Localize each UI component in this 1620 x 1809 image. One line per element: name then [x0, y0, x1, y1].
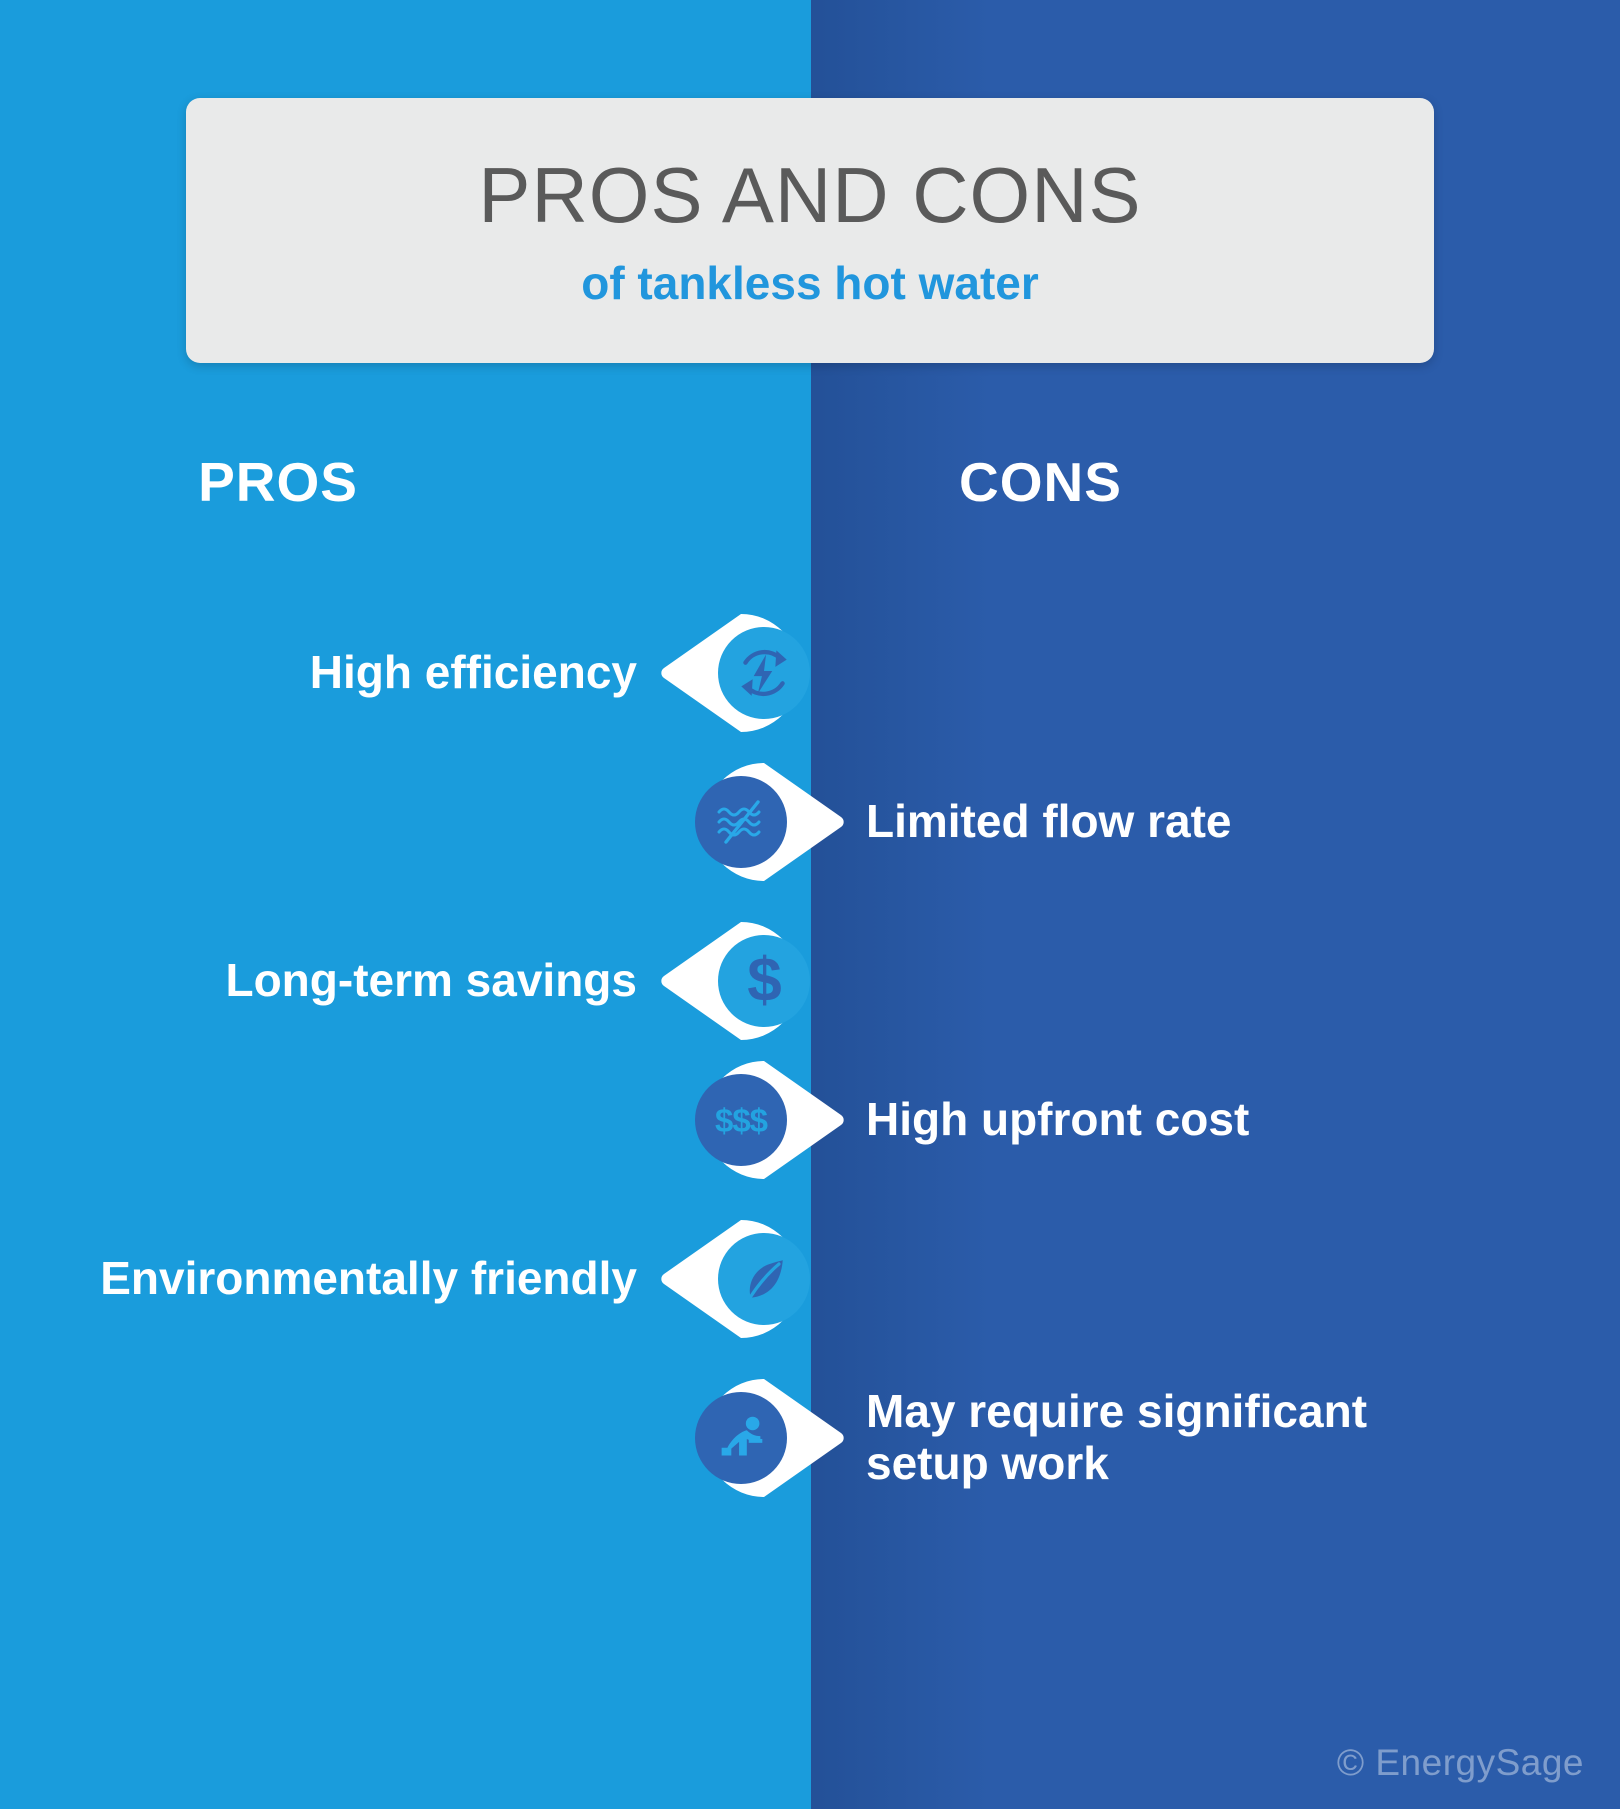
- pros-item-label: Long-term savings: [0, 955, 655, 1007]
- cons-item-label: Limited flow rate: [866, 796, 1231, 848]
- cons-item-label: May require significant setup work: [866, 1386, 1367, 1489]
- list-item-high-upfront-cost: $$$ High upfront cost: [660, 1050, 1620, 1190]
- page-subtitle: of tankless hot water: [581, 260, 1039, 306]
- water-waves-slash-icon: [695, 776, 787, 868]
- page-title: PROS AND CONS: [478, 156, 1141, 234]
- pros-column-heading: PROS: [0, 455, 811, 510]
- leaf-icon: [718, 1233, 810, 1325]
- triple-dollar-glyph: $$$: [715, 1104, 767, 1137]
- cycle-bolt-icon: [718, 627, 810, 719]
- list-item-high-efficiency: High efficiency: [0, 603, 1620, 743]
- person-installing-icon: [695, 1392, 787, 1484]
- dollar-sign-icon: $: [718, 935, 810, 1027]
- marker-high-upfront-cost: $$$: [660, 1050, 850, 1190]
- marker-environmentally-friendly: [655, 1209, 845, 1349]
- infographic-root: PROS AND CONS of tankless hot water PROS…: [0, 0, 1620, 1809]
- marker-setup-work: [660, 1368, 850, 1508]
- title-card: PROS AND CONS of tankless hot water: [186, 98, 1434, 363]
- copyright-watermark: © EnergySage: [1337, 1744, 1584, 1781]
- dollar-glyph: $: [747, 950, 780, 1012]
- triple-dollar-sign-icon: $$$: [695, 1074, 787, 1166]
- marker-long-term-savings: $: [655, 911, 845, 1051]
- pros-item-label: Environmentally friendly: [0, 1253, 655, 1305]
- list-item-environmentally-friendly: Environmentally friendly: [0, 1209, 1620, 1349]
- pros-item-label: High efficiency: [0, 647, 655, 699]
- list-item-setup-work: May require significant setup work: [660, 1353, 1620, 1523]
- cons-column-heading: CONS: [811, 455, 1620, 510]
- marker-high-efficiency: [655, 603, 845, 743]
- list-item-limited-flow-rate: Limited flow rate: [660, 752, 1620, 892]
- marker-limited-flow-rate: [660, 752, 850, 892]
- cons-item-label: High upfront cost: [866, 1094, 1249, 1146]
- list-item-long-term-savings: Long-term savings $: [0, 911, 1620, 1051]
